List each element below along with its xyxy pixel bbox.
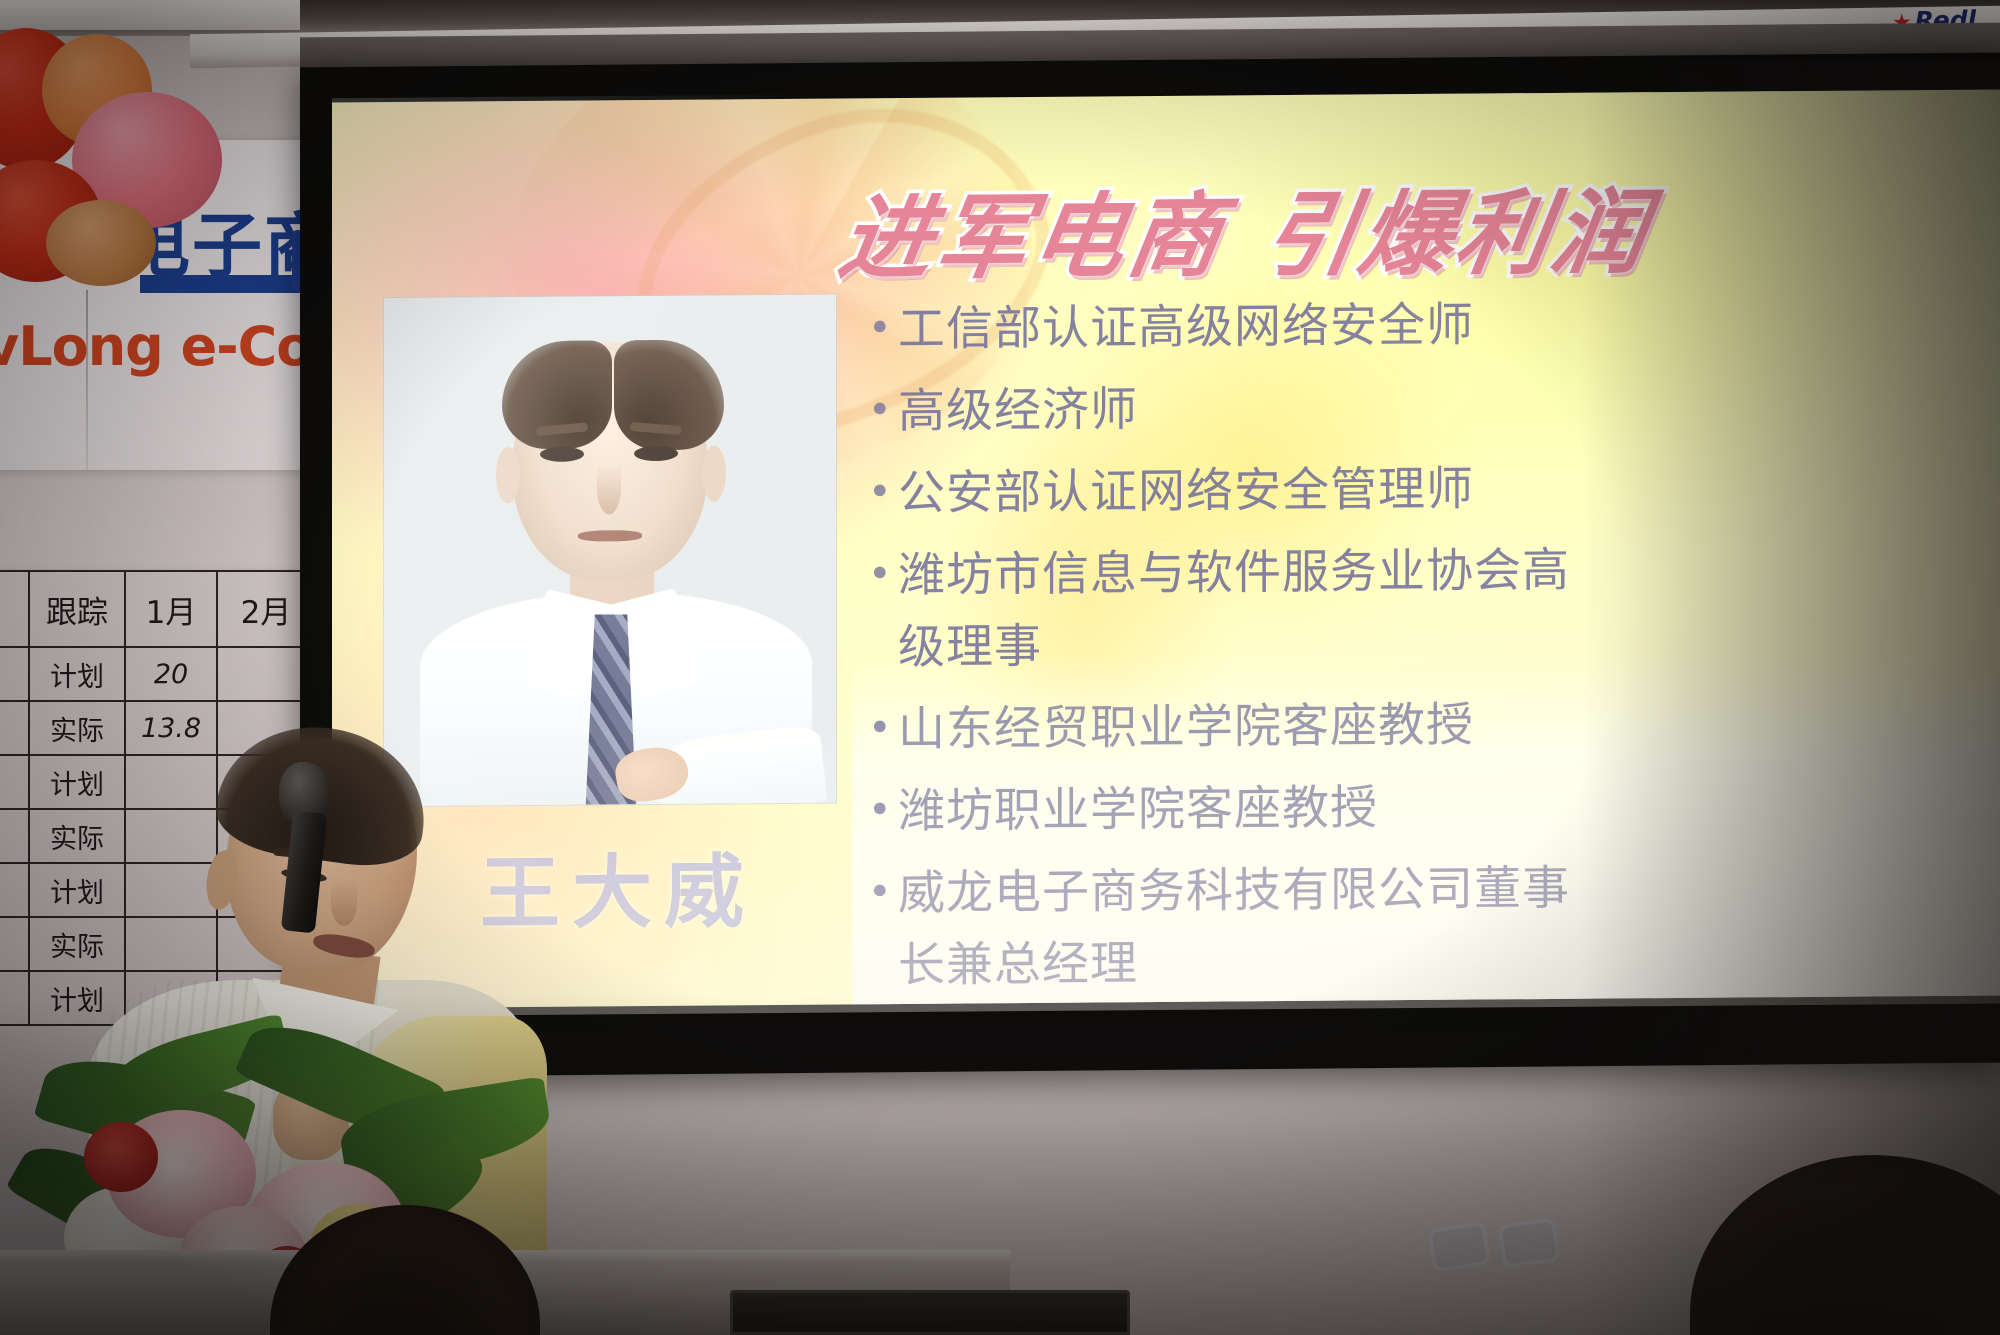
banner-english-text: vLong e-Comm — [0, 315, 320, 378]
photo-scene: ★Redl 电子商 vLong e-Comm 银 跟踪 1月 2月 计划 20 — [0, 0, 2000, 1335]
bullet-marker-icon: • — [868, 858, 898, 926]
table-row: 计划 20 — [0, 647, 315, 701]
table-header-track: 跟踪 — [29, 571, 125, 647]
row-group-cell — [0, 917, 29, 971]
speaker-nose — [331, 880, 357, 926]
bottom-shadow — [0, 995, 2000, 1335]
table-header-jan: 1月 — [125, 571, 217, 647]
table-header-corner — [0, 571, 29, 647]
row-group-cell — [0, 809, 29, 863]
row-group-cell — [0, 647, 29, 701]
bullet-text: 潍坊市信息与软件服务业协会高 级理事 — [898, 535, 1570, 684]
slide-title: 进军电商引爆利润 — [831, 158, 1660, 298]
presenter-portrait-photo — [384, 295, 836, 807]
bullet-text: 山东经贸职业学院客座教授 — [898, 690, 1474, 767]
bullet-text: 威龙电子商务科技有限公司董事 长兼总经理 — [898, 853, 1570, 1002]
bullet-marker-icon: • — [868, 376, 898, 444]
bullet-text: 潍坊职业学院客座教授 — [898, 772, 1378, 848]
balloon-string — [86, 290, 88, 470]
portrait-ear-right — [702, 445, 726, 501]
portrait-mouth — [578, 530, 642, 542]
bullet-text: 公安部认证网络安全管理师 — [898, 454, 1474, 531]
balloon-tan — [46, 200, 156, 286]
portrait-ear-left — [496, 447, 520, 503]
bullet-marker-icon: • — [868, 540, 898, 608]
bullet-marker-icon: • — [868, 694, 898, 762]
bullet-text: 高级经济师 — [898, 374, 1138, 448]
bullet-marker-icon: • — [868, 458, 898, 526]
row-jan-value: 20 — [125, 647, 217, 701]
bullet-marker-icon: • — [868, 776, 898, 844]
row-group-cell — [0, 701, 29, 755]
portrait-nose — [597, 462, 621, 514]
bullet-text: 工信部认证高级网络安全师 — [898, 290, 1474, 367]
slide-title-part1: 进军电商 — [832, 182, 1233, 292]
row-group-cell — [0, 755, 29, 809]
ceiling-rail-left — [0, 0, 300, 30]
table-header-row: 跟踪 1月 2月 — [0, 571, 315, 647]
row-label: 计划 — [29, 647, 125, 701]
row-group-cell — [0, 863, 29, 917]
bullet-marker-icon: • — [868, 294, 898, 362]
